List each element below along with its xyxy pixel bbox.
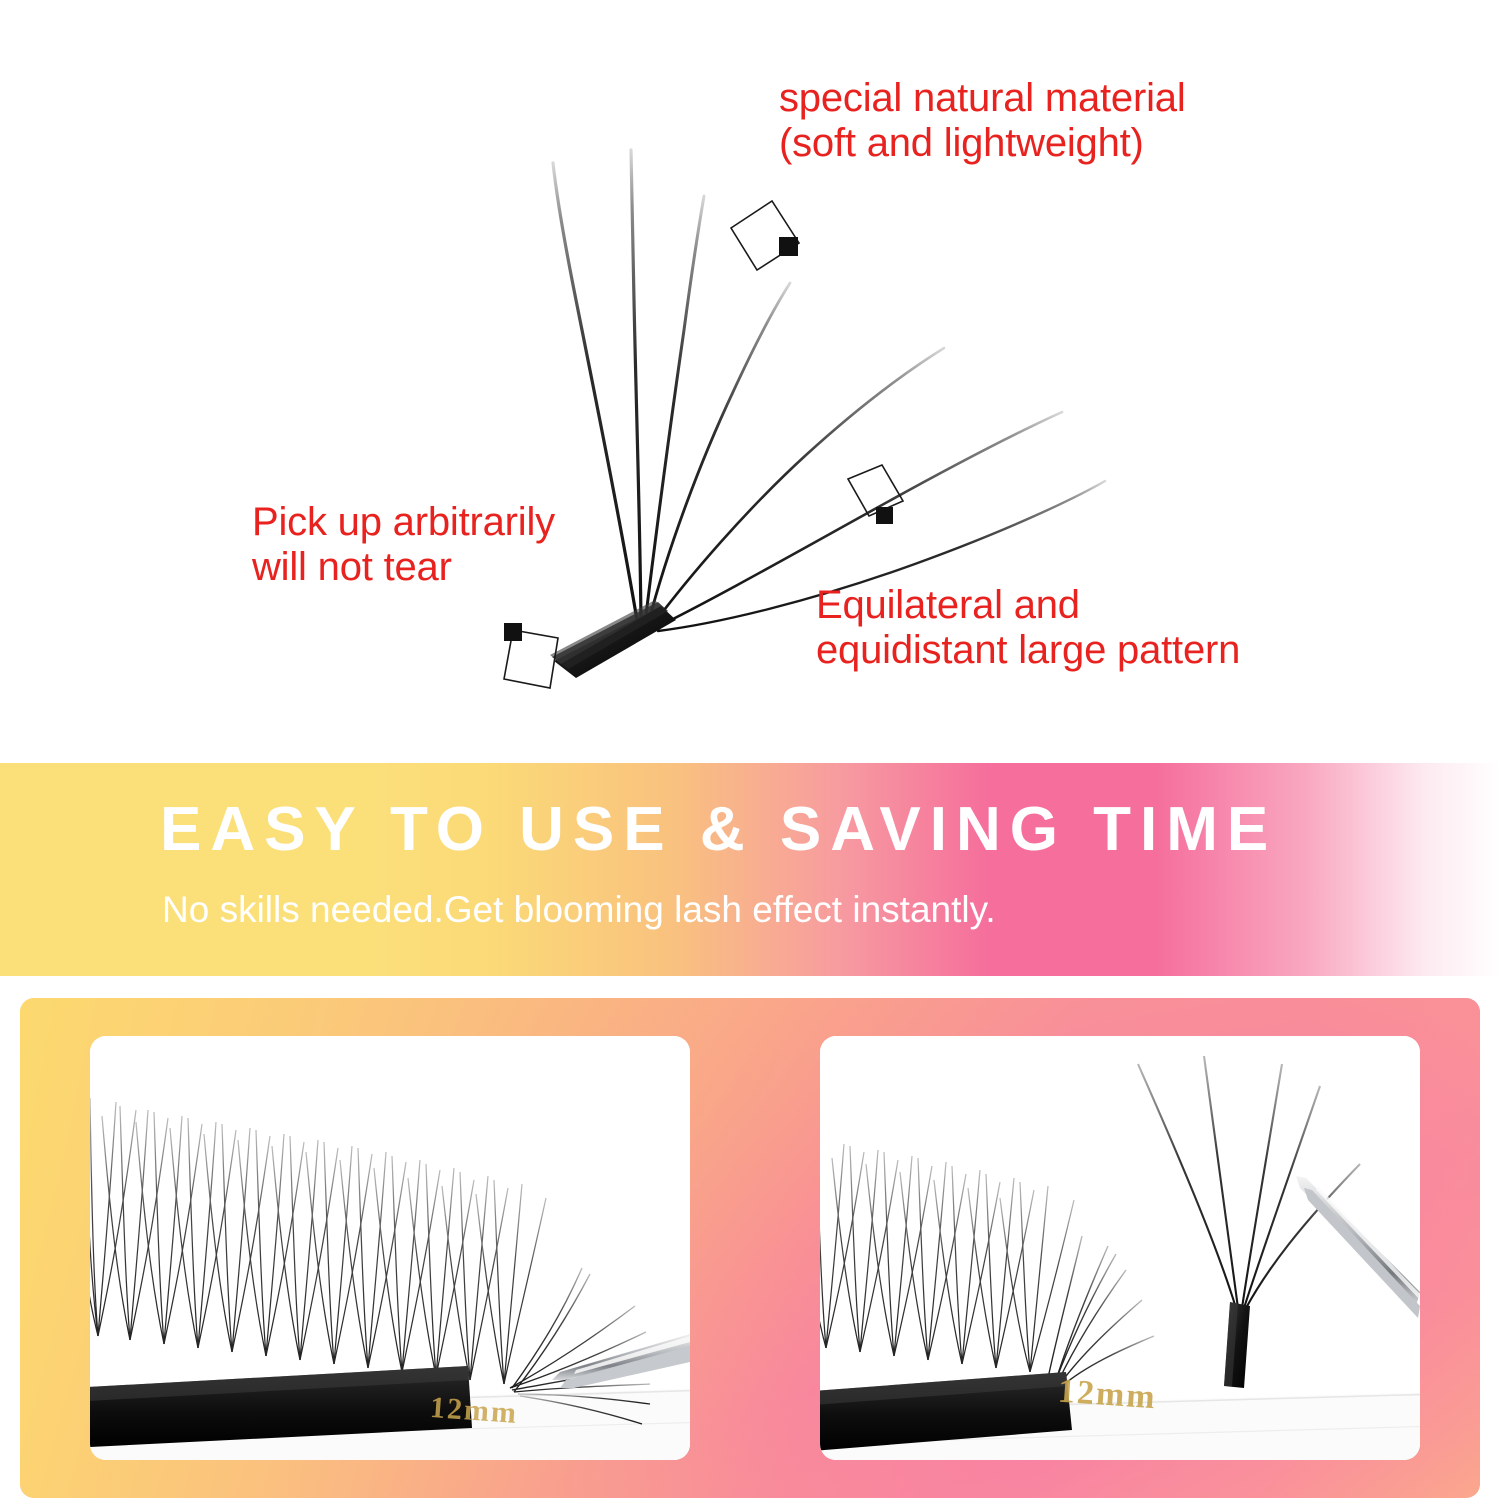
lash-fan-diagram-section: special natural material (soft and light… (0, 0, 1500, 763)
headline-banner: EASY TO USE & SAVING TIME No skills need… (0, 763, 1500, 976)
banner-title: EASY TO USE & SAVING TIME (160, 799, 1277, 861)
lash-fan-pickup-photo-right (820, 1036, 1420, 1460)
lash-fan-base (550, 600, 676, 678)
callout-pick-up-arbitrarily: Pick up arbitrarily will not tear (252, 500, 555, 590)
photo-gallery-card: 12mm (20, 998, 1480, 1498)
rotated-square-marker-base (504, 623, 558, 688)
rotated-square-marker-upper (731, 201, 799, 270)
callout-special-natural-material: special natural material (soft and light… (779, 76, 1186, 166)
lash-tray-photo-left (90, 1036, 690, 1460)
product-infographic-page: special natural material (soft and light… (0, 0, 1500, 1500)
photo-panel-fan-pickup: 12mm (820, 1036, 1420, 1460)
rotated-square-marker-middle (848, 465, 903, 524)
lash-fan-illustration (0, 0, 1500, 763)
callout-equilateral-equidistant: Equilateral and equidistant large patter… (816, 583, 1240, 673)
lash-strands (553, 150, 1105, 631)
photo-panel-tray-closeup: 12mm (90, 1036, 690, 1460)
banner-subtitle: No skills needed.Get blooming lash effec… (162, 891, 996, 928)
